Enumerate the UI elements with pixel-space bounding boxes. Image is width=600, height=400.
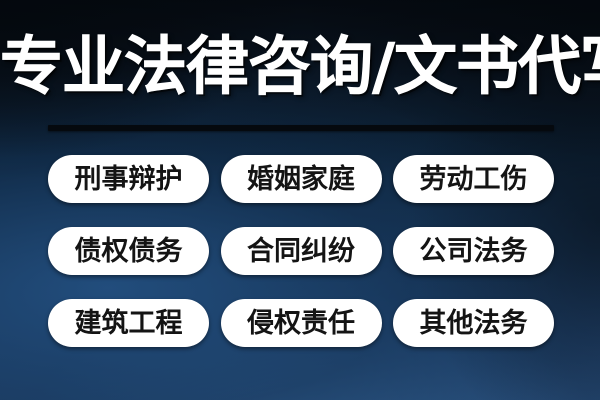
service-tag-construction-engineering[interactable]: 建筑工程 — [48, 299, 209, 347]
page-title: 专业法律咨询/文书代写 — [0, 28, 600, 106]
service-tag-tort-liability[interactable]: 侵权责任 — [221, 299, 382, 347]
poster-content: 专业法律咨询/文书代写 刑事辩护 婚姻家庭 劳动工伤 债权债务 合同纠纷 公司法… — [0, 0, 600, 400]
service-tag-corporate-legal[interactable]: 公司法务 — [393, 227, 554, 275]
legal-services-poster: 专业法律咨询/文书代写 刑事辩护 婚姻家庭 劳动工伤 债权债务 合同纠纷 公司法… — [0, 0, 600, 400]
service-tag-row: 债权债务 合同纠纷 公司法务 — [48, 227, 554, 275]
service-tag-debt-claims[interactable]: 债权债务 — [48, 227, 209, 275]
title-divider — [48, 125, 554, 131]
service-tag-row: 刑事辩护 婚姻家庭 劳动工伤 — [48, 155, 554, 203]
service-tag-criminal-defense[interactable]: 刑事辩护 — [48, 155, 209, 203]
service-tag-grid: 刑事辩护 婚姻家庭 劳动工伤 债权债务 合同纠纷 公司法务 建筑工程 侵权责任 … — [48, 155, 554, 347]
service-tag-row: 建筑工程 侵权责任 其他法务 — [48, 299, 554, 347]
service-tag-contract-disputes[interactable]: 合同纠纷 — [221, 227, 382, 275]
service-tag-labor-injury[interactable]: 劳动工伤 — [393, 155, 554, 203]
service-tag-other-legal[interactable]: 其他法务 — [393, 299, 554, 347]
service-tag-marriage-family[interactable]: 婚姻家庭 — [221, 155, 382, 203]
